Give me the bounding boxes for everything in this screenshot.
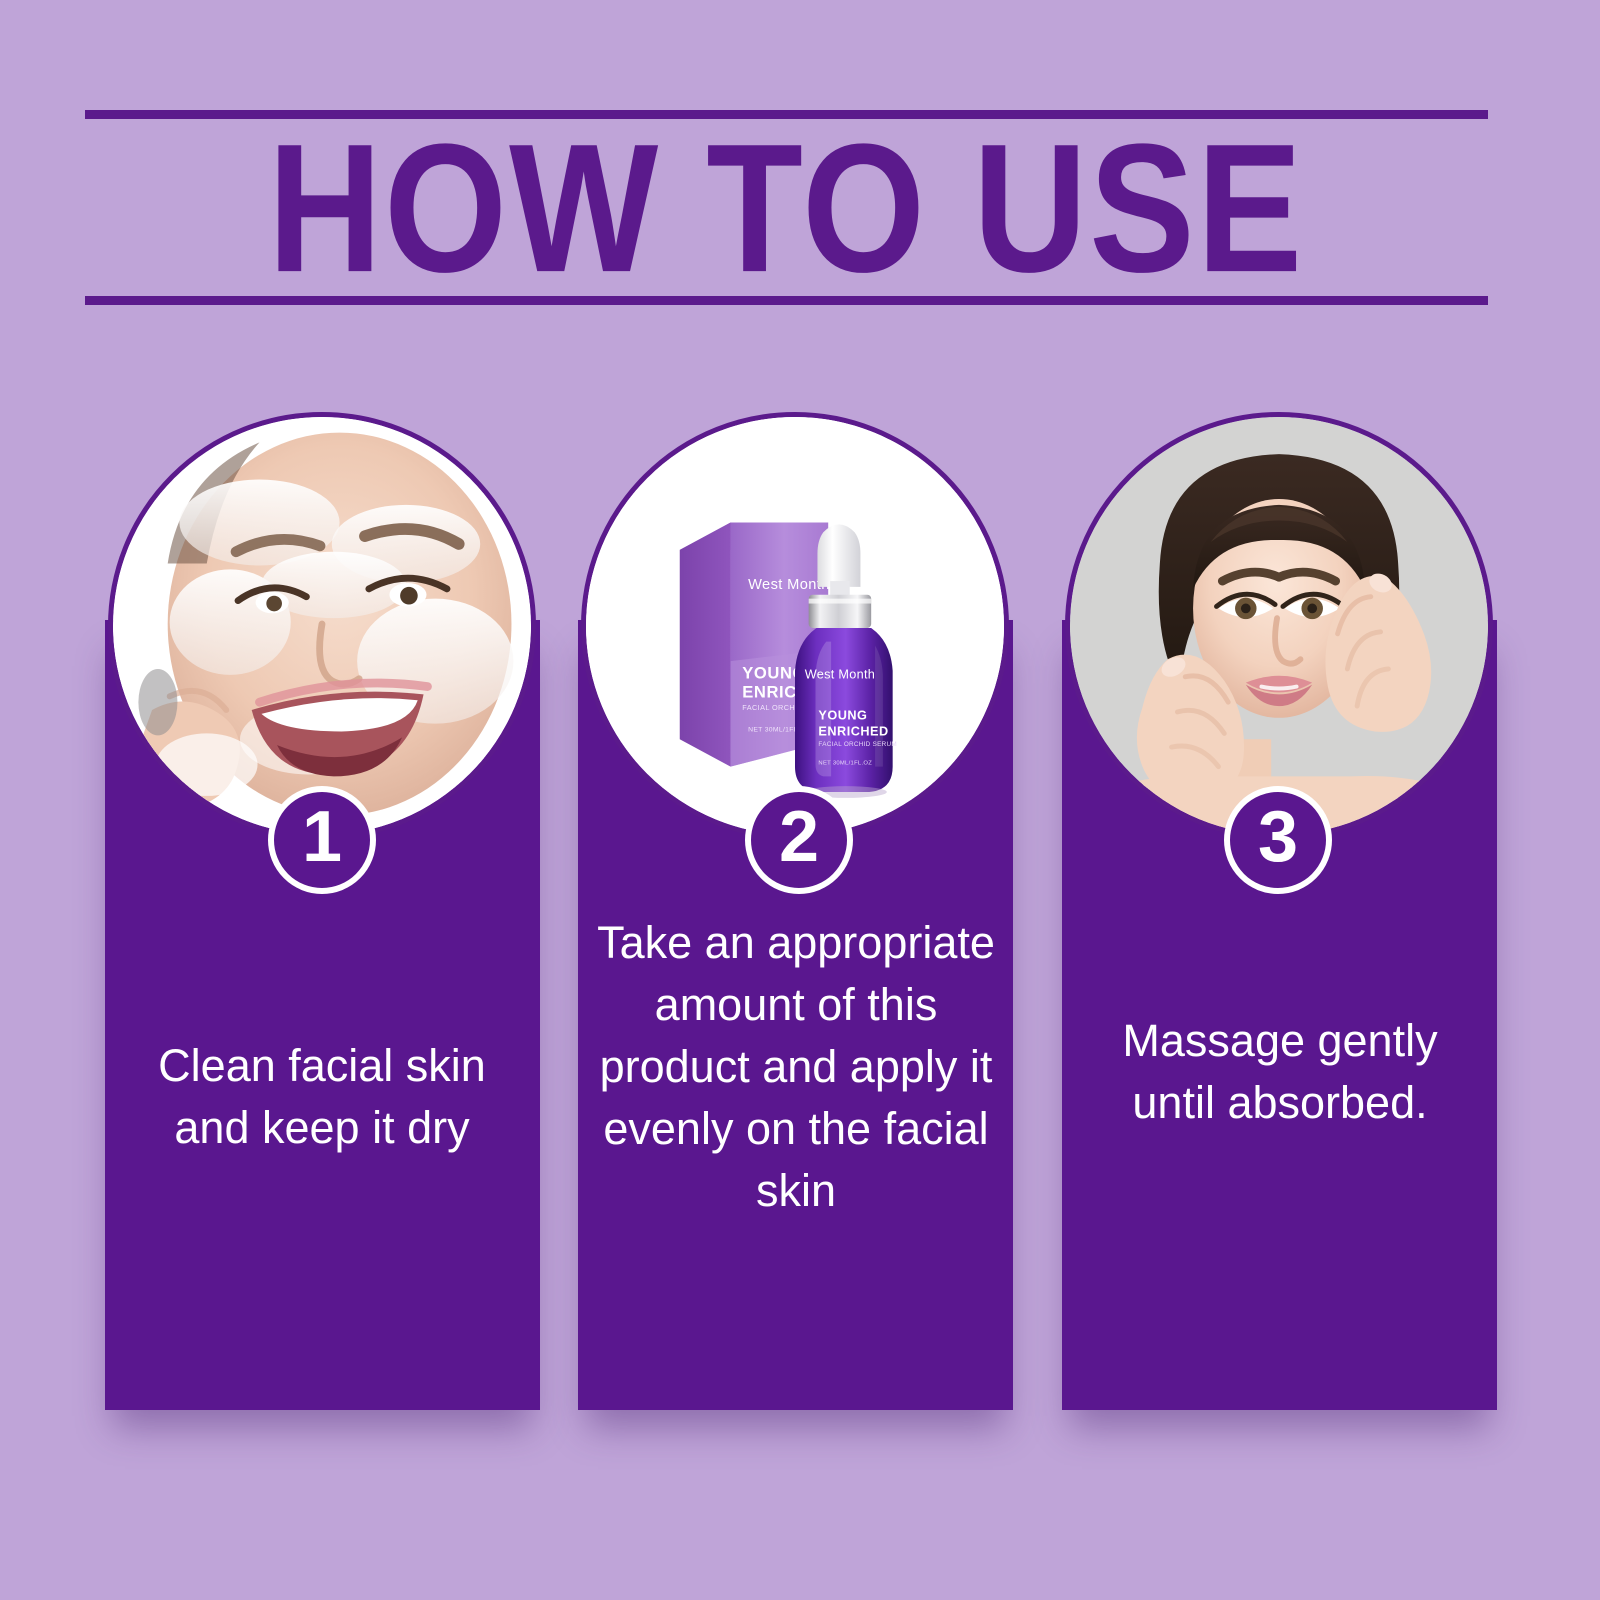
step-2-caption: Take an appropriate amount of this produ… bbox=[596, 912, 996, 1222]
steps-container: 1 Clean facial skin and keep it dry bbox=[0, 0, 1600, 1600]
step-3-photo bbox=[1065, 412, 1493, 840]
step-1-number-badge: 1 bbox=[268, 786, 376, 894]
face-washing-illustration bbox=[113, 417, 531, 835]
step-2-photo: West Month YOUNG ENRICHED FACIAL ORCHID … bbox=[581, 412, 1009, 840]
step-1-number: 1 bbox=[302, 801, 342, 873]
svg-text:NET 30ML/1FL.OZ: NET 30ML/1FL.OZ bbox=[818, 761, 872, 767]
svg-text:FACIAL ORCHID SERUM: FACIAL ORCHID SERUM bbox=[818, 741, 896, 748]
step-3-caption: Massage gently until absorbed. bbox=[1080, 1010, 1480, 1134]
step-2-number-badge: 2 bbox=[745, 786, 853, 894]
svg-text:YOUNG: YOUNG bbox=[818, 709, 867, 723]
svg-text:ENRICHED: ENRICHED bbox=[818, 724, 888, 738]
svg-text:West Month: West Month bbox=[805, 668, 875, 682]
step-3-number: 3 bbox=[1258, 801, 1298, 873]
step-1-photo bbox=[108, 412, 536, 840]
how-to-use-infographic: HOW TO USE bbox=[0, 0, 1600, 1600]
step-1-caption: Clean facial skin and keep it dry bbox=[122, 1035, 522, 1159]
step-2-number: 2 bbox=[779, 801, 819, 873]
product-shot-illustration: West Month YOUNG ENRICHED FACIAL ORCHID … bbox=[586, 417, 1004, 835]
face-washing-art bbox=[113, 417, 531, 835]
face-massage-art bbox=[1070, 417, 1488, 835]
serum-product-art: West Month YOUNG ENRICHED FACIAL ORCHID … bbox=[586, 417, 1004, 835]
step-3-number-badge: 3 bbox=[1224, 786, 1332, 894]
face-massage-illustration bbox=[1070, 417, 1488, 835]
